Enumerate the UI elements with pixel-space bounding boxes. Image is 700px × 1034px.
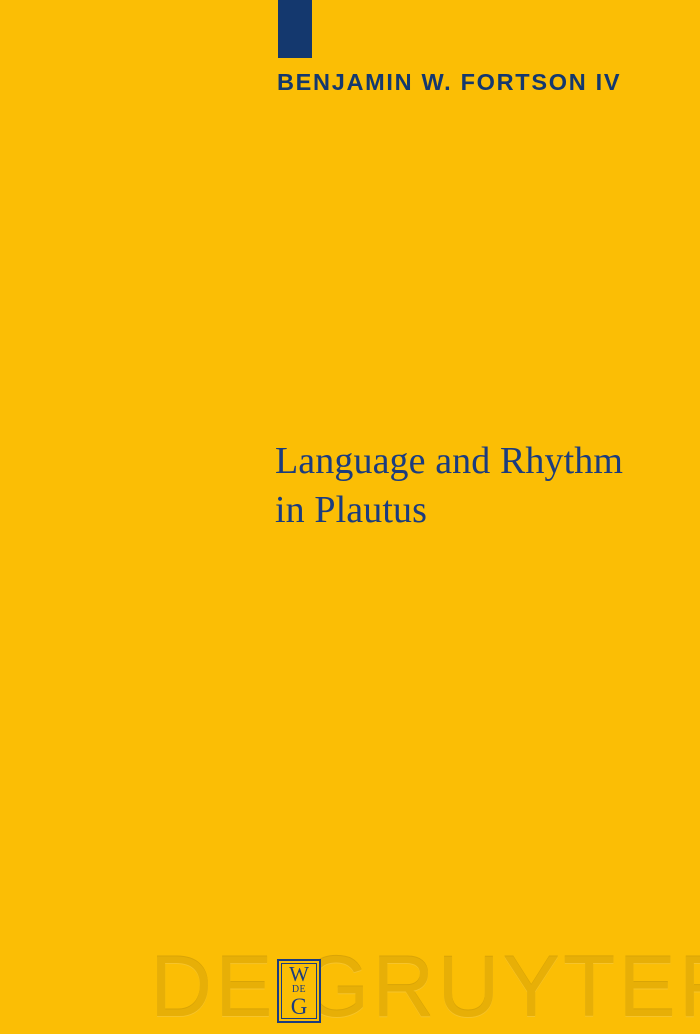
- wdeg-logo-inner: W DE G: [281, 963, 317, 1019]
- book-title-line-2: in Plautus: [275, 486, 685, 535]
- book-title: Language and Rhythm in Plautus: [275, 437, 685, 535]
- publisher-wordmark: DE GRUYTER: [150, 940, 700, 1034]
- publisher-mark: DE GRUYTER W DE G: [0, 940, 700, 1034]
- author-name: BENJAMIN W. FORTSON IV: [277, 70, 677, 96]
- book-cover: BENJAMIN W. FORTSON IV Language and Rhyt…: [0, 0, 700, 1034]
- wdeg-logo-letter-w: W: [289, 964, 309, 984]
- imprint-accent-bar: [278, 0, 312, 58]
- book-title-line-1: Language and Rhythm: [275, 437, 685, 486]
- wdeg-logo-letter-g: G: [291, 996, 308, 1018]
- wdeg-logo-icon: W DE G: [277, 959, 321, 1023]
